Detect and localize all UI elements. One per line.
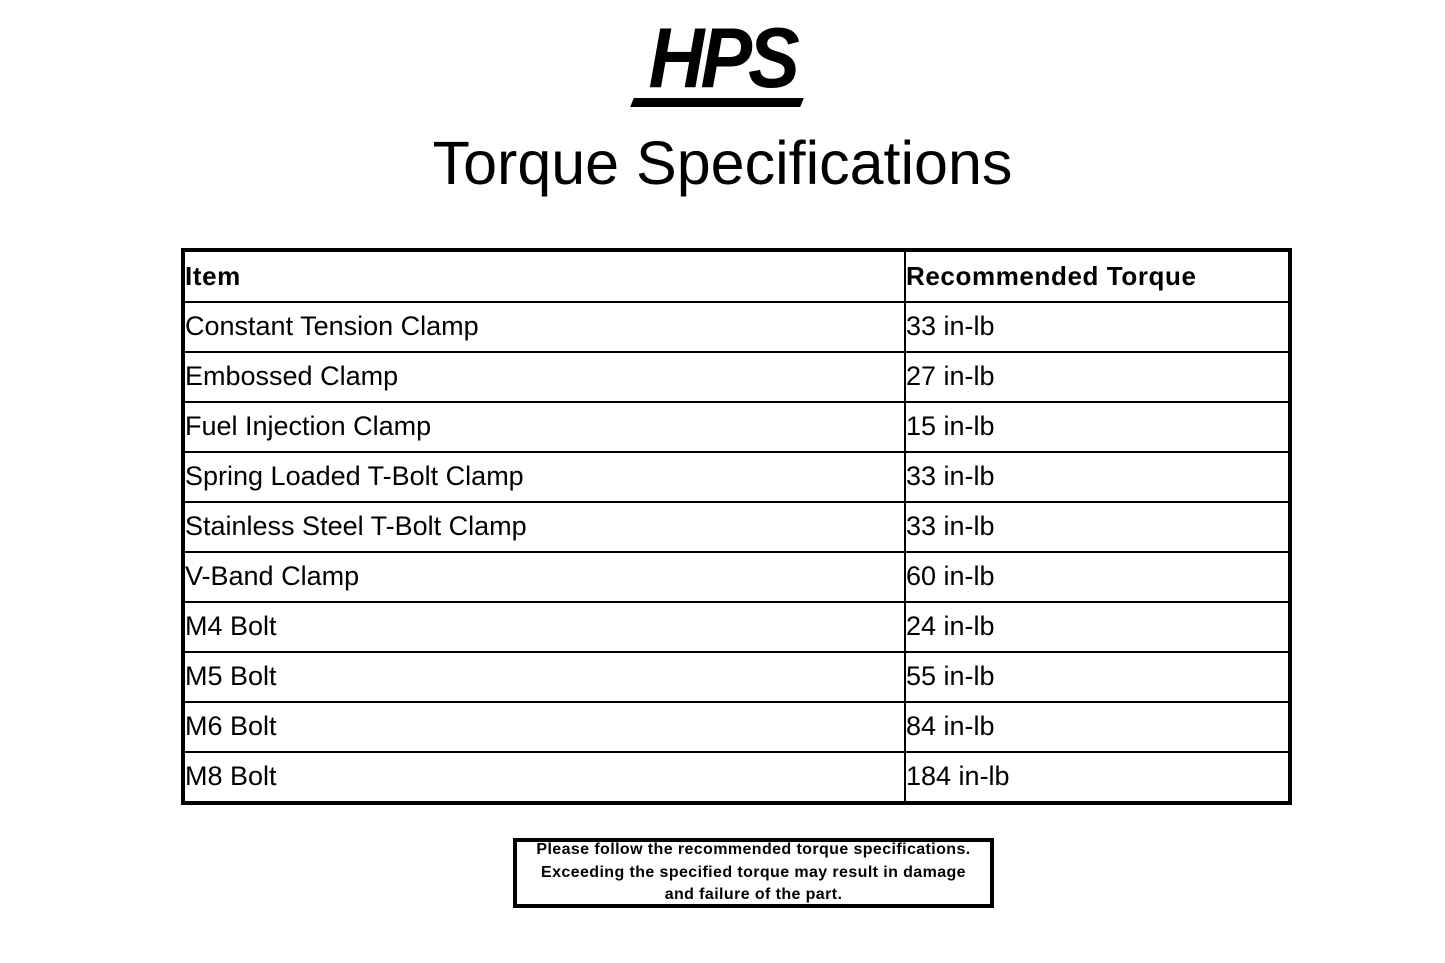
column-header-item: Item — [183, 250, 905, 302]
cell-torque: 33 in-lb — [905, 302, 1290, 352]
cell-item: V-Band Clamp — [183, 552, 905, 602]
cell-torque: 24 in-lb — [905, 602, 1290, 652]
table-row: M5 Bolt 55 in-lb — [183, 652, 1290, 702]
page-title: Torque Specifications — [0, 131, 1445, 195]
cell-item: Spring Loaded T-Bolt Clamp — [183, 452, 905, 502]
cell-item: M5 Bolt — [183, 652, 905, 702]
cell-item: Embossed Clamp — [183, 352, 905, 402]
hps-logo-underline-bar — [631, 98, 805, 107]
table-row: M6 Bolt 84 in-lb — [183, 702, 1290, 752]
cell-torque: 33 in-lb — [905, 452, 1290, 502]
table-header-row: Item Recommended Torque — [183, 250, 1290, 302]
cell-item: Stainless Steel T-Bolt Clamp — [183, 502, 905, 552]
warning-note-box: Please follow the recommended torque spe… — [513, 838, 994, 908]
torque-specifications-table: Item Recommended Torque Constant Tension… — [181, 248, 1292, 805]
cell-torque: 27 in-lb — [905, 352, 1290, 402]
note-line: and failure of the part. — [665, 884, 843, 907]
table-row: Constant Tension Clamp 33 in-lb — [183, 302, 1290, 352]
table-header: Item Recommended Torque — [183, 250, 1290, 302]
column-header-recommended-torque: Recommended Torque — [905, 250, 1290, 302]
cell-torque: 184 in-lb — [905, 752, 1290, 803]
table-row: Fuel Injection Clamp 15 in-lb — [183, 402, 1290, 452]
cell-torque: 33 in-lb — [905, 502, 1290, 552]
cell-item: M6 Bolt — [183, 702, 905, 752]
brand-logo-area: HPS — [0, 28, 1445, 98]
table-row: Embossed Clamp 27 in-lb — [183, 352, 1290, 402]
cell-torque: 55 in-lb — [905, 652, 1290, 702]
hps-logo: HPS — [644, 28, 800, 98]
table-row: M4 Bolt 24 in-lb — [183, 602, 1290, 652]
cell-item: Fuel Injection Clamp — [183, 402, 905, 452]
hps-logo-wordmark: HPS — [643, 20, 802, 98]
table-row: V-Band Clamp 60 in-lb — [183, 552, 1290, 602]
cell-item: M8 Bolt — [183, 752, 905, 803]
cell-torque: 84 in-lb — [905, 702, 1290, 752]
table-body: Constant Tension Clamp 33 in-lb Embossed… — [183, 302, 1290, 803]
cell-torque: 60 in-lb — [905, 552, 1290, 602]
cell-item: Constant Tension Clamp — [183, 302, 905, 352]
cell-torque: 15 in-lb — [905, 402, 1290, 452]
table-row: Spring Loaded T-Bolt Clamp 33 in-lb — [183, 452, 1290, 502]
cell-item: M4 Bolt — [183, 602, 905, 652]
note-line: Exceeding the specified torque may resul… — [541, 862, 966, 885]
note-line: Please follow the recommended torque spe… — [536, 839, 970, 862]
table-row: Stainless Steel T-Bolt Clamp 33 in-lb — [183, 502, 1290, 552]
table-row: M8 Bolt 184 in-lb — [183, 752, 1290, 803]
